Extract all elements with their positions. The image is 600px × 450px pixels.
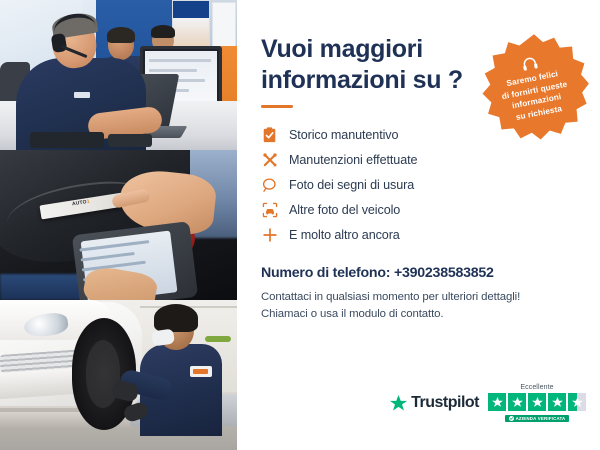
- feature-label: E molto altro ancora: [289, 228, 400, 242]
- feature-item-foto-segni-usura: Foto dei segni di usura: [261, 176, 578, 193]
- trustpilot-star-icon: [389, 394, 408, 413]
- colleague-mid-hair: [107, 27, 135, 43]
- star-filled: [488, 393, 506, 411]
- star-filled: [508, 393, 526, 411]
- contact-subtext: Contattaci in qualsiasi momento per ulte…: [261, 289, 578, 324]
- mechanic-hair: [154, 304, 198, 332]
- feature-label: Manutenzioni effettuate: [289, 153, 417, 167]
- verified-label: AZIENDA VERIFICATA: [516, 416, 566, 421]
- clipboard-check-icon: [261, 126, 278, 143]
- trustpilot-rating-label: Eccellente: [520, 384, 553, 391]
- mechanic-uniform-logo-mark: [193, 369, 208, 374]
- car-scan-icon: [261, 201, 278, 218]
- star-filled: [528, 393, 546, 411]
- car-wheel-rim: [86, 340, 120, 408]
- contact-subtext-line-1: Contattaci in qualsiasi momento per ulte…: [261, 291, 520, 303]
- vehicle-info-advert: AUTO1: [0, 0, 600, 450]
- check-circle-icon: [509, 416, 514, 421]
- mechanic-wheel-photo: [0, 300, 237, 450]
- keyboard: [30, 132, 104, 148]
- phone-number-link[interactable]: +390238583852: [394, 265, 494, 281]
- trustpilot-logo: Trustpilot: [389, 394, 479, 413]
- photo-column: AUTO1: [0, 0, 237, 450]
- monitor-ui-row: [149, 59, 211, 62]
- phone-line: Numero di telefono: +390238583852: [261, 265, 578, 281]
- vehicle-inspection-tablet-photo: AUTO1: [0, 150, 237, 300]
- star-filled: [548, 393, 566, 411]
- contact-subtext-line-2: Chiamaci o usa il modulo di contatto.: [261, 308, 443, 320]
- headset-earcup: [51, 33, 68, 53]
- trustpilot-wordmark: Trustpilot: [411, 394, 479, 412]
- phone-label: Numero di telefono:: [261, 265, 390, 281]
- callout-badge: Saremo felici di fornirti queste informa…: [478, 32, 590, 144]
- feature-item-altre-foto-veicolo: Altre foto del veicolo: [261, 201, 578, 218]
- feature-item-manutenzioni-effettuate: Manutenzioni effettuate: [261, 151, 578, 168]
- magnifier-icon: [261, 176, 278, 193]
- keyboard-secondary: [108, 134, 152, 147]
- headline-line-2: informazioni su ?: [261, 66, 463, 94]
- feature-item-molto-altro: E molto altro ancora: [261, 226, 578, 243]
- tools-cross-icon: [261, 151, 278, 168]
- trustpilot-rating: Eccellente: [488, 384, 586, 422]
- wall-poster: [172, 0, 210, 52]
- feature-label: Altre foto del veicolo: [289, 203, 400, 217]
- trustpilot-stars: [488, 393, 586, 411]
- agent-polo-logo: [74, 92, 90, 98]
- garage-tool: [205, 336, 231, 342]
- plus-icon: [261, 226, 278, 243]
- feature-label: Storico manutentivo: [289, 128, 398, 142]
- trustpilot-widget[interactable]: Trustpilot Eccellente: [389, 384, 586, 422]
- headset-icon: [520, 55, 540, 73]
- verified-business-badge: AZIENDA VERIFICATA: [505, 415, 570, 422]
- title-underline: [261, 105, 293, 108]
- monitor-ui-row: [149, 69, 197, 72]
- colleague-far-hair: [151, 25, 175, 38]
- call-center-agents-photo: [0, 0, 237, 150]
- page-title: Vuoi maggiori informazioni su ?: [261, 34, 475, 95]
- star-half: [568, 393, 586, 411]
- feature-label: Foto dei segni di usura: [289, 178, 414, 192]
- content-panel: Vuoi maggiori informazioni su ? Saremo f…: [237, 0, 600, 450]
- headline-line-1: Vuoi maggiori: [261, 35, 423, 63]
